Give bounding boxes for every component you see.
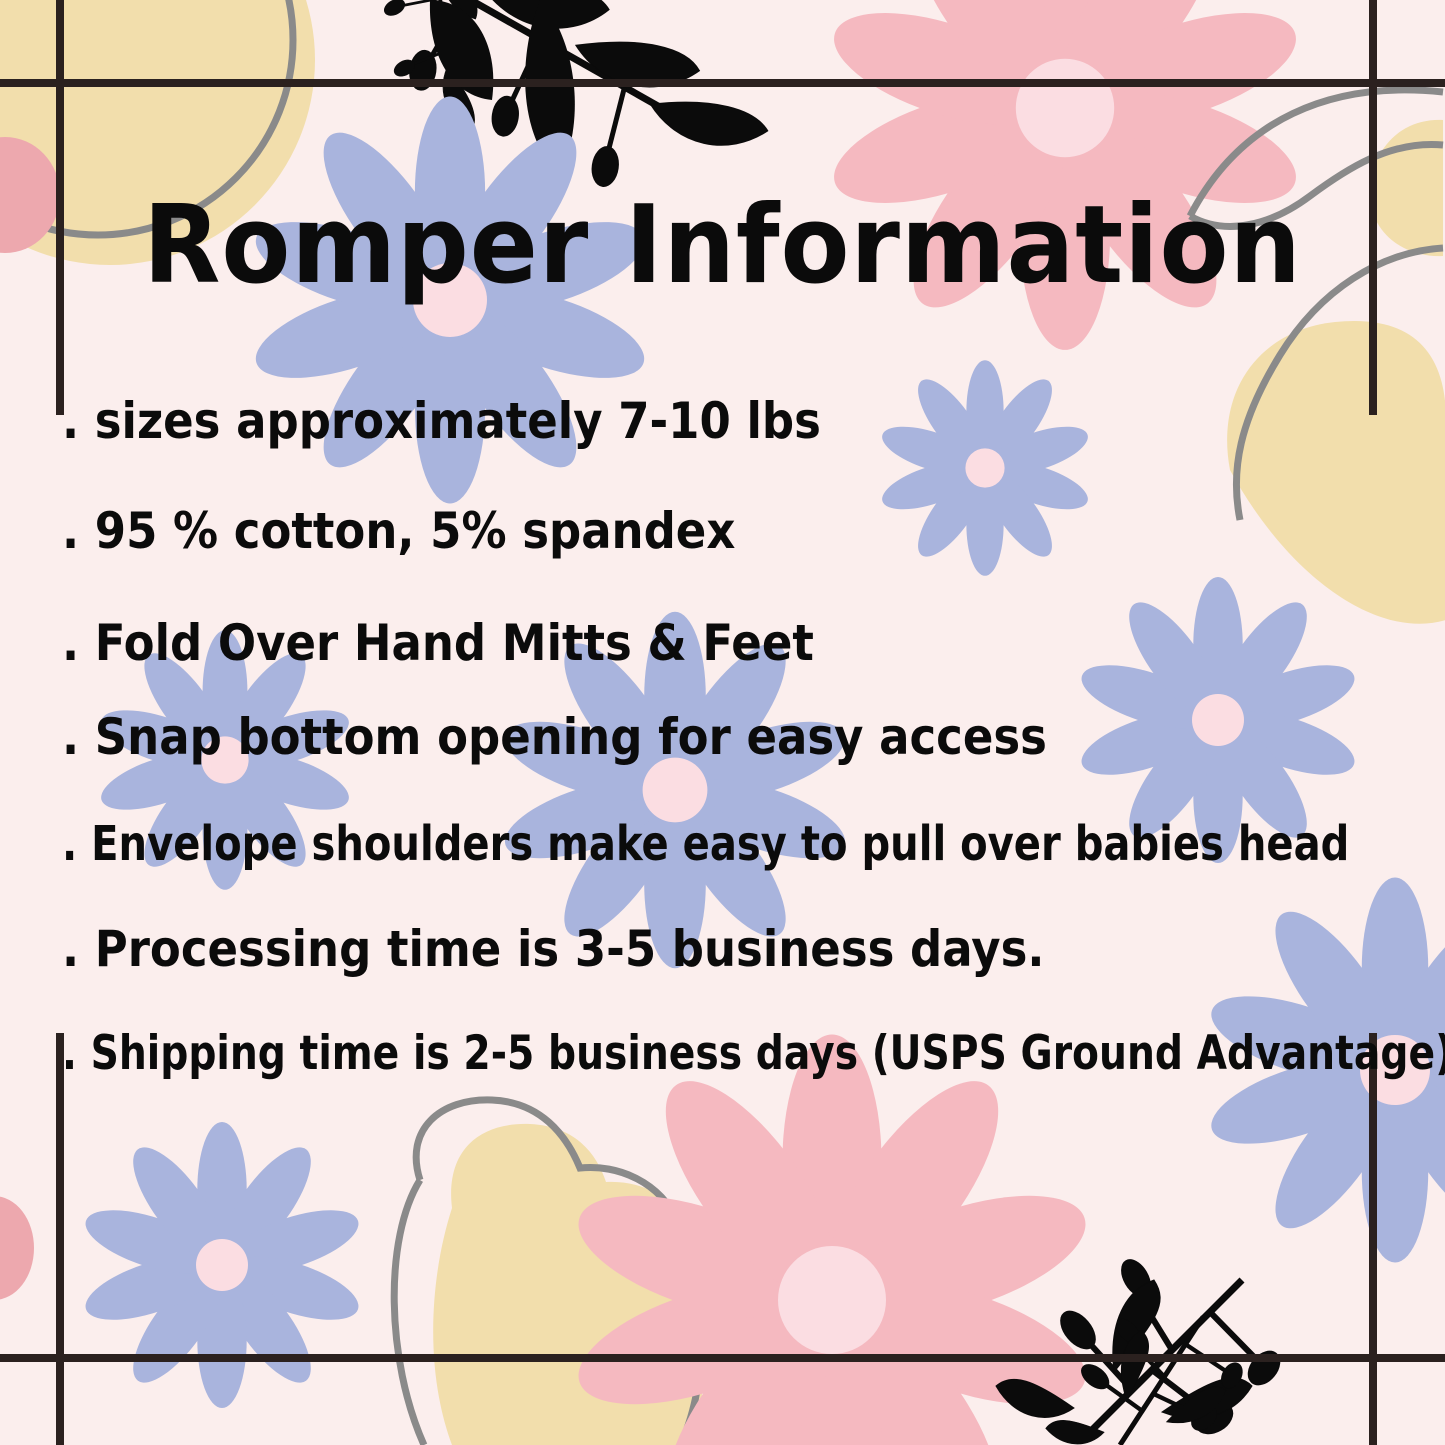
list-item: . sizes approximately 7-10 lbs — [62, 396, 1286, 446]
poster-canvas: Romper Information . sizes approximately… — [0, 0, 1445, 1445]
list-item: . Snap bottom opening for easy access — [62, 712, 1286, 762]
list-item: . 95 % cotton, 5% spandex — [62, 506, 1286, 556]
list-item: . Fold Over Hand Mitts & Feet — [62, 618, 1286, 668]
list-item: . Processing time is 3-5 business days. — [62, 924, 1286, 974]
page-title: Romper Information — [51, 192, 1395, 300]
list-item: . Envelope shoulders make easy to pull o… — [62, 820, 1198, 868]
list-item: . Shipping time is 2-5 business days (US… — [62, 1030, 1198, 1077]
info-bullet-list: . sizes approximately 7-10 lbs . 95 % co… — [62, 396, 1422, 1077]
poster-content: Romper Information . sizes approximately… — [0, 0, 1445, 1445]
